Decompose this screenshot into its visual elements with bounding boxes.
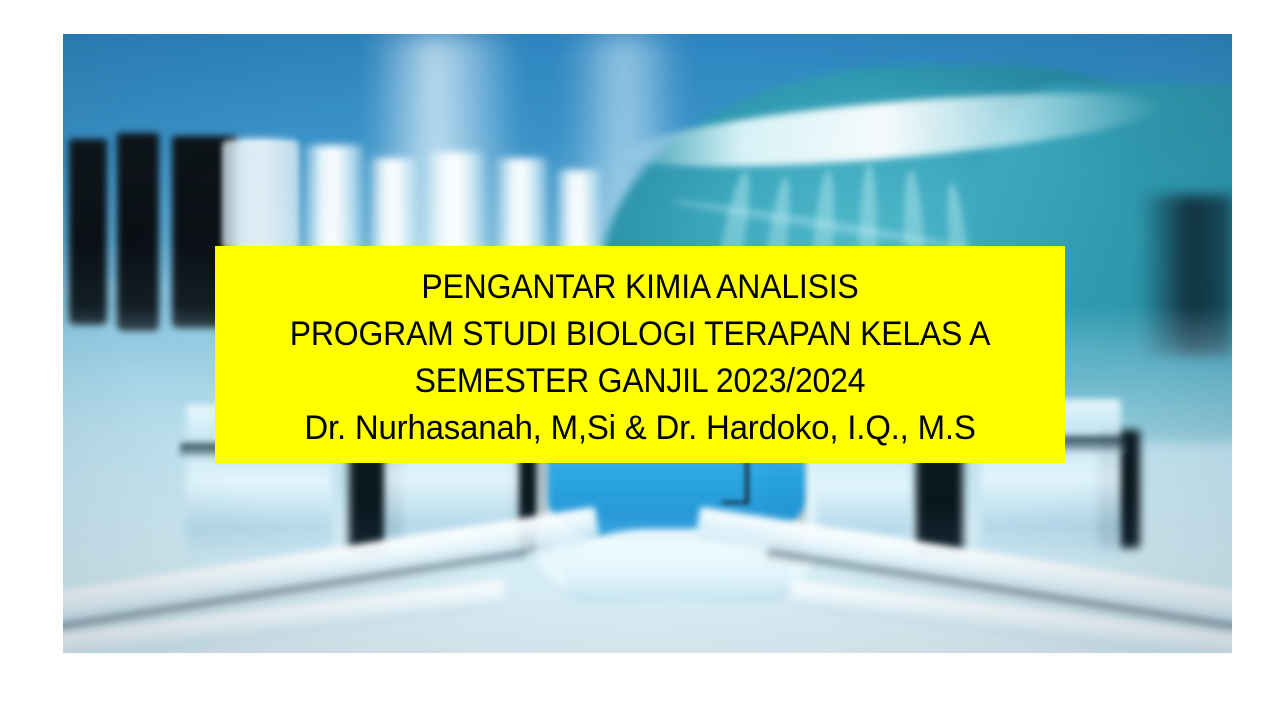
title-line-lecturers: Dr. Nurhasanah, M,Si & Dr. Hardoko, I.Q.… [237,405,1042,452]
title-line-course: PENGANTAR KIMIA ANALISIS [250,264,1030,311]
presentation-slide: PENGANTAR KIMIA ANALISIS PROGRAM STUDI B… [0,0,1280,720]
title-line-program: PROGRAM STUDI BIOLOGI TERAPAN KELAS A [250,311,1030,358]
dark-test-tube [117,133,159,331]
test-tube-ribbed-neck [222,142,299,247]
title-banner: PENGANTAR KIMIA ANALISIS PROGRAM STUDI B… [215,246,1065,463]
title-line-semester: SEMESTER GANJIL 2023/2024 [250,358,1030,405]
stirring-rod-foot [722,501,748,504]
dark-test-tube [69,139,108,325]
